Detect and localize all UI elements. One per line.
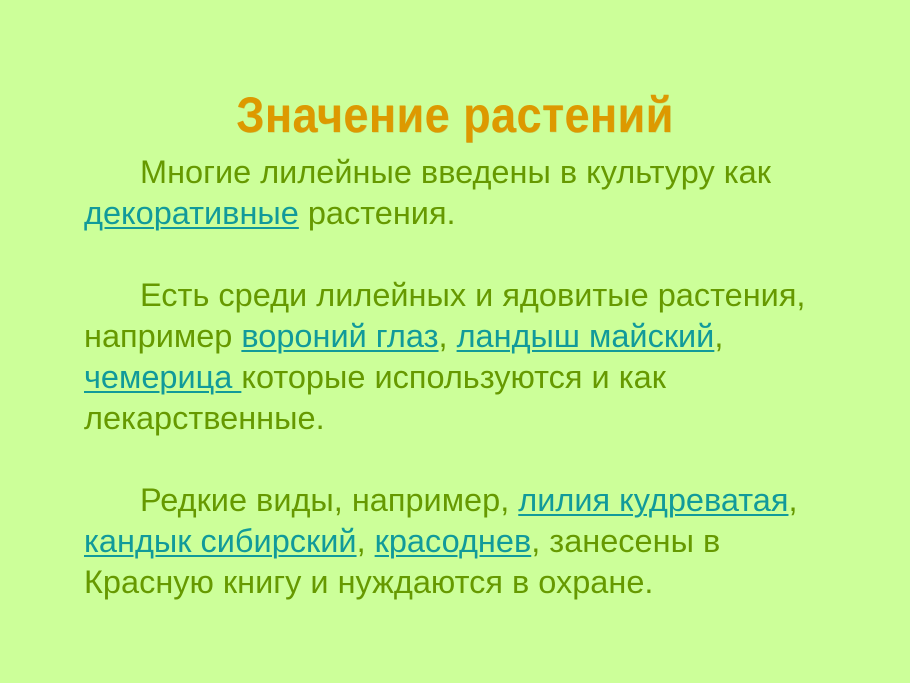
plant-link[interactable]: чемерица: [84, 359, 241, 395]
slide-body-text: Многие лилейные введены в культуру как д…: [84, 152, 856, 603]
presentation-slide: Значение растений Многие лилейные введен…: [0, 0, 910, 683]
plant-link[interactable]: ландыш майский: [457, 318, 715, 354]
paragraph-2: Есть среди лилейных и ядовитые растения,…: [84, 275, 856, 439]
body-text-run: Редкие виды, например,: [140, 482, 518, 518]
body-text-run: ,: [357, 523, 375, 559]
body-text-run: ,: [788, 482, 797, 518]
body-text-run: растения.: [299, 195, 456, 231]
plant-link[interactable]: кандык сибирский: [84, 523, 357, 559]
plant-link[interactable]: вороний глаз: [241, 318, 438, 354]
body-text-run: ,: [714, 318, 723, 354]
paragraph-1: Многие лилейные введены в культуру как д…: [84, 152, 856, 234]
plant-link[interactable]: красоднев: [375, 523, 532, 559]
paragraph-3: Редкие виды, например, лилия кудреватая,…: [84, 480, 856, 603]
body-text-run: ,: [439, 318, 457, 354]
plant-link[interactable]: лилия кудреватая: [518, 482, 788, 518]
page-title: Значение растений: [46, 86, 865, 144]
plant-link[interactable]: декоративные: [84, 195, 299, 231]
body-text-run: Многие лилейные введены в культуру как: [140, 154, 771, 190]
